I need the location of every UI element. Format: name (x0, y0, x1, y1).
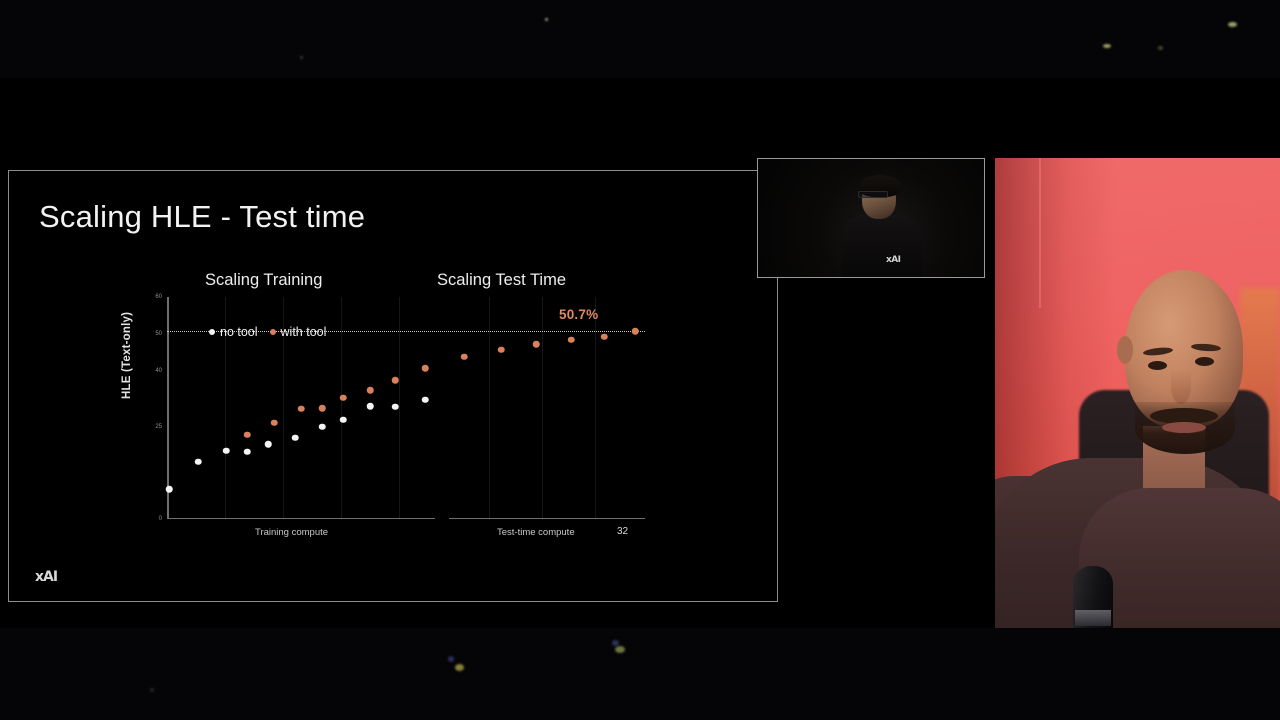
data-point-no-tool (195, 458, 202, 465)
data-point-with-tool (319, 405, 326, 412)
pip-shirt-xai-logo: xAI (886, 255, 900, 265)
data-point-with-tool (244, 431, 251, 438)
data-point-with-tool (367, 387, 374, 394)
data-point-with-tool (340, 394, 347, 401)
data-point-no-tool (392, 403, 399, 410)
webcam-person-mouth (1162, 422, 1206, 433)
data-point-no-tool (244, 448, 251, 455)
screen-root: Scaling HLE - Test time xAI Scaling Trai… (0, 0, 1280, 720)
x-axis-line-training (167, 518, 435, 520)
data-point-no-tool (367, 403, 374, 410)
y-tick-label: 60 (155, 294, 162, 300)
legend-item-no-tool: no tool (209, 325, 258, 339)
presenter-pip-video[interactable]: xAI (757, 158, 985, 278)
x-axis-line-test-time (449, 518, 645, 520)
data-point-no-tool (292, 434, 299, 441)
commentator-webcam-video[interactable] (995, 158, 1280, 628)
x-axis-label-test-time: Test-time compute (497, 527, 575, 538)
y-tick-label: 40 (155, 368, 162, 374)
gridline (341, 297, 342, 519)
legend-dot-icon-no-tool (209, 329, 215, 335)
legend-item-with-tool: with tool (270, 325, 327, 339)
chart-panel-title-training: Scaling Training (205, 271, 322, 290)
webcam-person-ear (1117, 336, 1133, 364)
webcam-person-eye-left (1148, 361, 1167, 370)
presentation-video-frame: Scaling HLE - Test time xAI Scaling Trai… (0, 78, 1280, 628)
webcam-person-eye-right (1195, 357, 1214, 366)
data-point-with-tool (632, 328, 639, 335)
data-point-with-tool (461, 354, 468, 361)
y-tick-label: 0 (159, 516, 162, 522)
data-point-no-tool (340, 417, 347, 424)
data-point-no-tool (319, 423, 326, 430)
legend-label-with-tool: with tool (281, 325, 327, 339)
legend-dot-icon-with-tool (270, 329, 276, 335)
gridline (489, 297, 490, 519)
hle-scaling-chart: Scaling Training Scaling Test Time HLE (… (127, 271, 647, 566)
y-tick-label: 50 (155, 331, 162, 337)
data-point-no-tool (223, 447, 230, 454)
data-point-with-tool (392, 377, 399, 384)
bottom-letterbox-band (0, 628, 1280, 720)
top-letterbox-band (0, 0, 1280, 78)
x-axis-label-training: Training compute (255, 527, 328, 538)
data-point-with-tool (601, 333, 608, 340)
gridline (595, 297, 596, 519)
xai-logo: xAI (35, 569, 57, 585)
pip-presenter-torso (842, 215, 922, 278)
slide-title: Scaling HLE - Test time (39, 199, 365, 235)
data-point-with-tool (271, 420, 278, 427)
data-point-with-tool (298, 405, 305, 412)
y-tick-label: 25 (155, 424, 162, 430)
data-point-with-tool (422, 365, 429, 372)
legend-label-no-tool: no tool (220, 325, 258, 339)
webcam-person-nose (1171, 370, 1191, 404)
x-tick-label-32: 32 (617, 526, 628, 537)
webcam-wall-edge (1039, 158, 1041, 308)
chart-legend: no tool with tool (209, 325, 326, 339)
chart-panel-title-test-time: Scaling Test Time (437, 271, 566, 290)
data-point-with-tool (568, 337, 575, 344)
data-point-no-tool (166, 486, 173, 493)
reference-value-label: 50.7% (559, 307, 598, 322)
gridline (399, 297, 400, 519)
glasses-icon (858, 191, 888, 198)
microphone-band (1075, 610, 1111, 626)
presentation-slide: Scaling HLE - Test time xAI Scaling Trai… (8, 170, 778, 602)
data-point-no-tool (422, 397, 429, 404)
chart-plot-area: 60 50 40 25 0 50.7% no tool (167, 297, 645, 519)
data-point-no-tool (265, 441, 272, 448)
data-point-with-tool (533, 341, 540, 348)
gridline (542, 297, 543, 519)
data-point-with-tool (498, 346, 505, 353)
chart-y-axis-label: HLE (Text-only) (121, 312, 133, 399)
